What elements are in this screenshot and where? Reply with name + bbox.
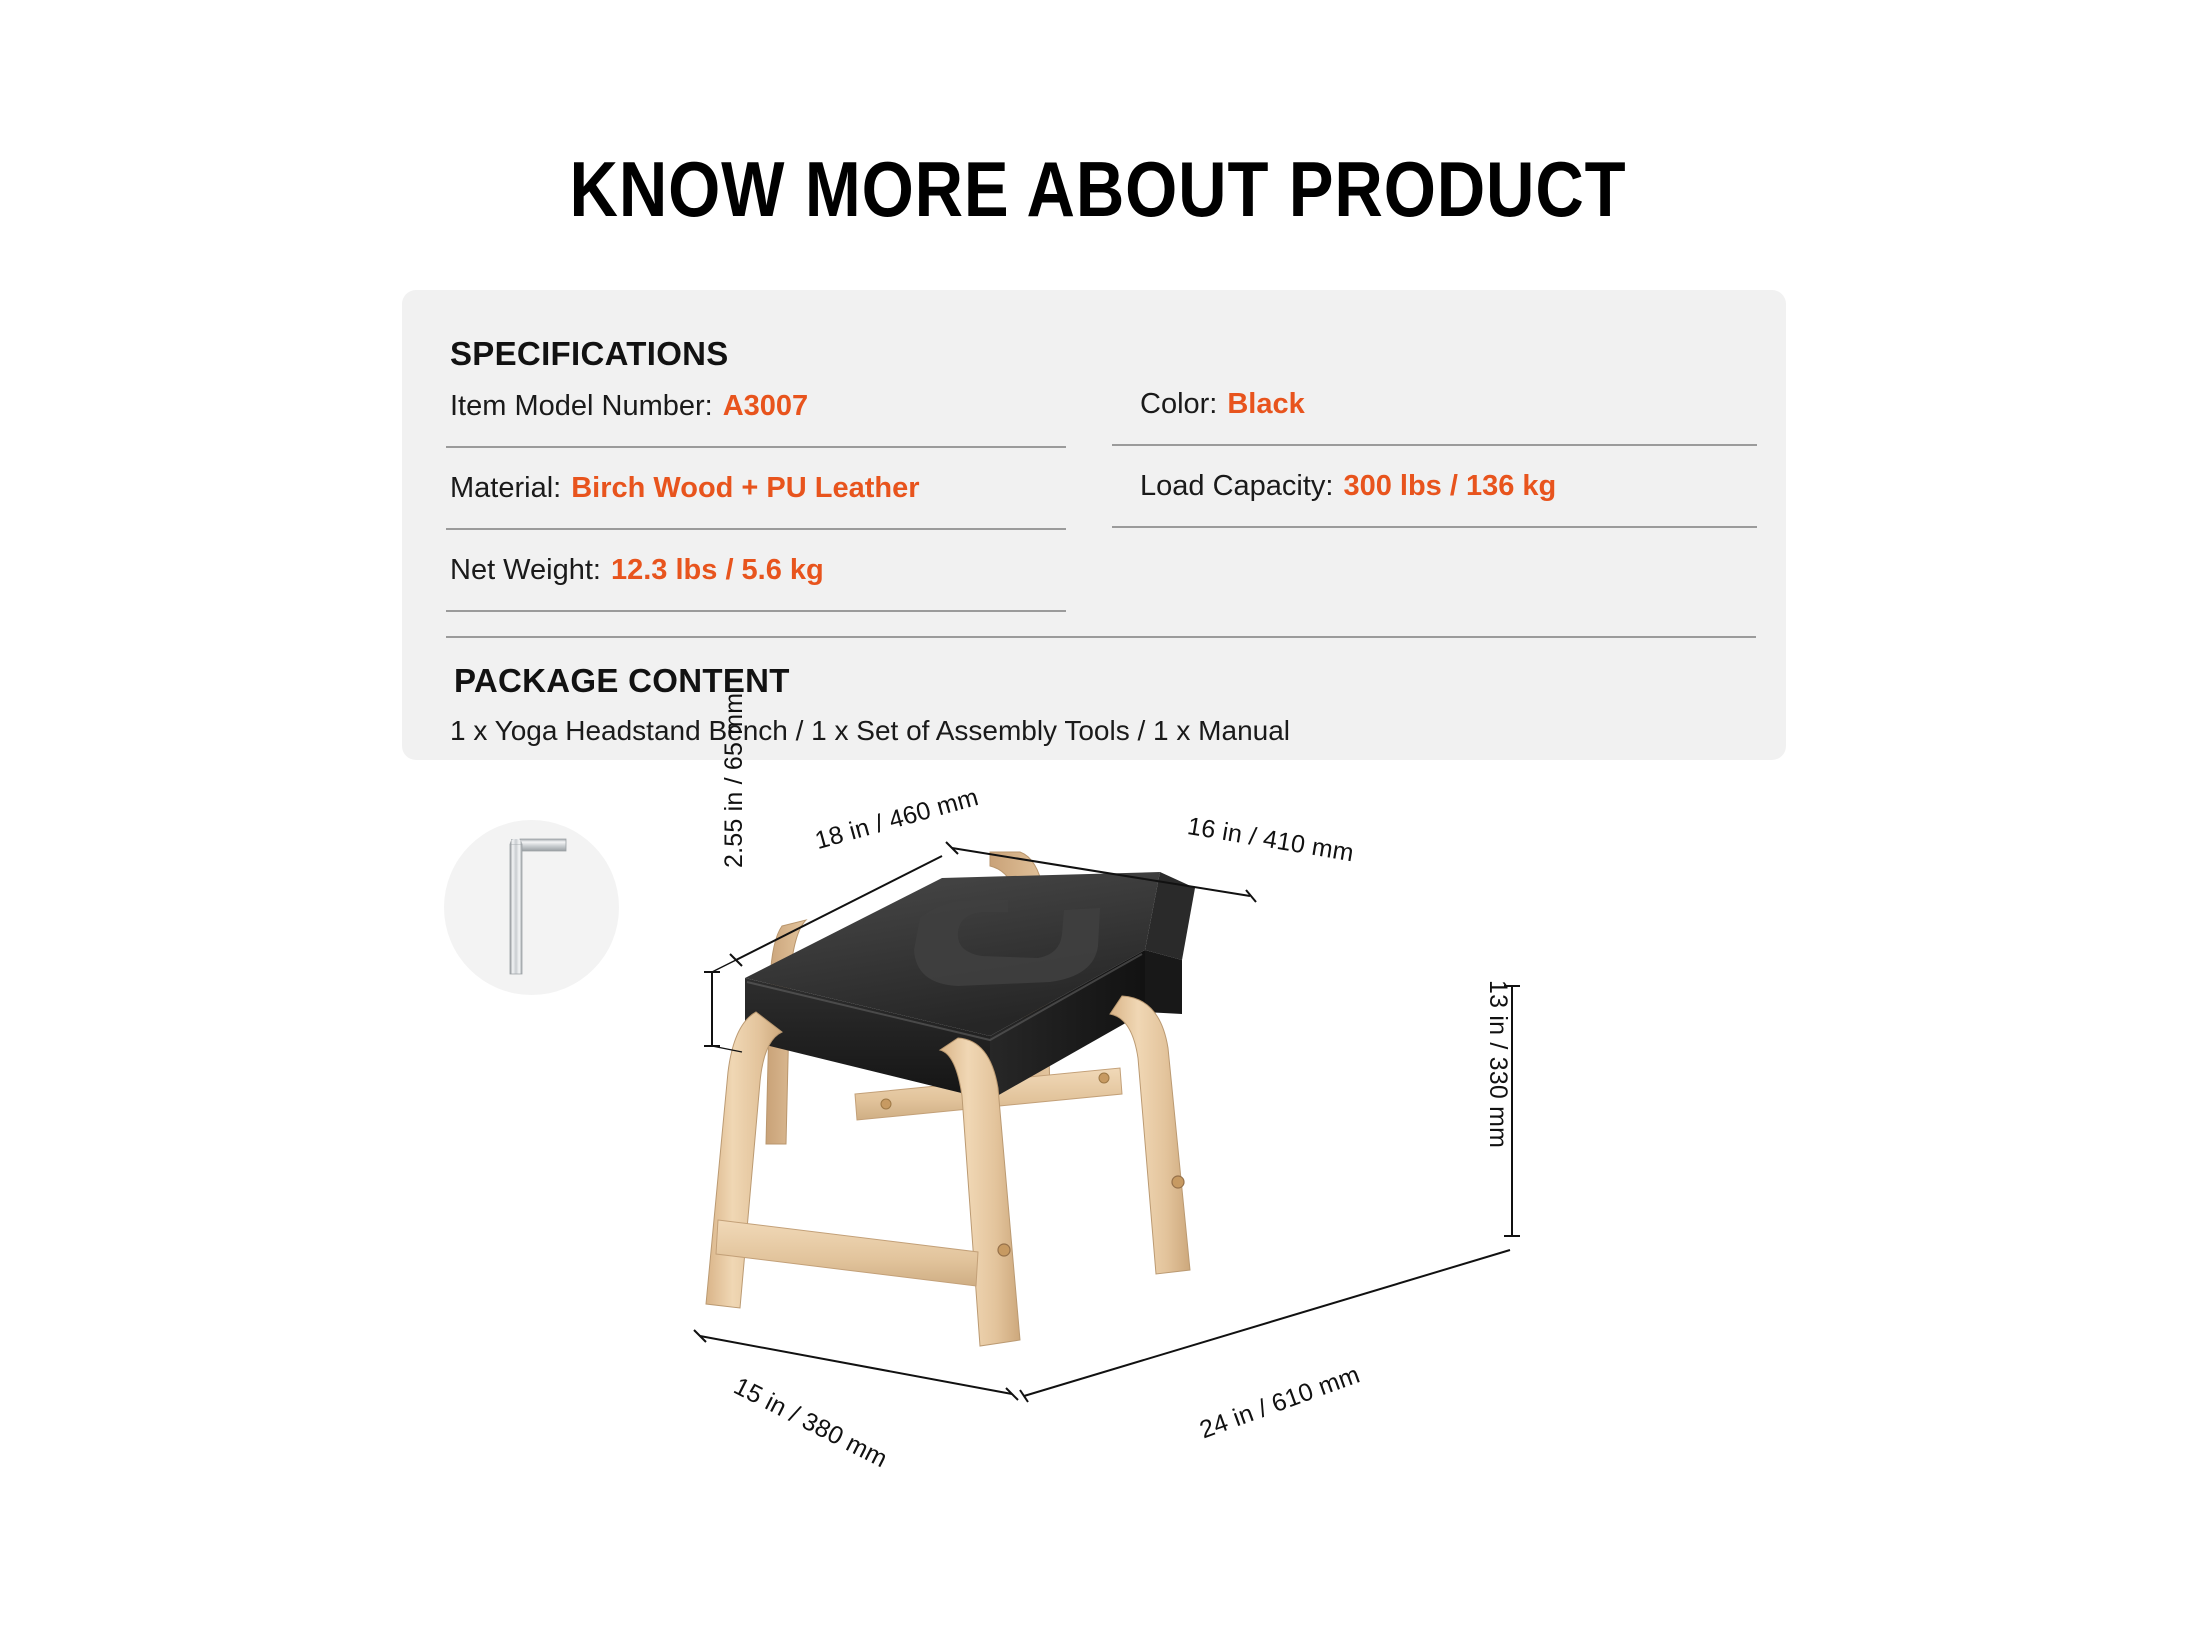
spec-row-load-capacity: Load Capacity: 300 lbs / 136 kg xyxy=(1140,470,1556,503)
package-content-text: 1 x Yoga Headstand Bench / 1 x Set of As… xyxy=(450,715,1290,747)
divider-right-2 xyxy=(1112,526,1757,528)
hex-key-long-arm xyxy=(510,844,522,974)
product-svg xyxy=(690,800,1610,1500)
cross-rail-left xyxy=(716,1220,978,1286)
specifications-panel: SPECIFICATIONS Item Model Number: A3007 … xyxy=(402,290,1786,760)
screw-icon xyxy=(1172,1176,1184,1188)
spec-value-net-weight: 12.3 lbs / 5.6 kg xyxy=(611,554,824,587)
leg-front-right xyxy=(1110,996,1190,1274)
spec-label-net-weight: Net Weight: xyxy=(450,554,601,587)
spec-label-load-capacity: Load Capacity: xyxy=(1140,470,1333,503)
spec-label-item-model-number: Item Model Number: xyxy=(450,390,713,423)
product-illustration xyxy=(690,800,1610,1500)
spec-row-net-weight: Net Weight: 12.3 lbs / 5.6 kg xyxy=(450,554,824,587)
hex-key-icon xyxy=(444,820,619,995)
spec-row-item-model-number: Item Model Number: A3007 xyxy=(450,390,808,423)
spec-row-material: Material: Birch Wood + PU Leather xyxy=(450,472,920,505)
divider-left-2 xyxy=(446,528,1066,530)
screw-icon xyxy=(1099,1073,1109,1083)
page-title: KNOW MORE ABOUT PRODUCT xyxy=(154,150,2043,228)
divider-left-1 xyxy=(446,446,1066,448)
dimension-label-leg-height: 13 in / 330 mm xyxy=(1483,980,1512,1148)
spec-value-item-model-number: A3007 xyxy=(723,390,808,423)
spec-value-material: Birch Wood + PU Leather xyxy=(571,472,919,505)
spec-label-color: Color: xyxy=(1140,388,1217,421)
divider-right-1 xyxy=(1112,444,1757,446)
spec-label-material: Material: xyxy=(450,472,561,505)
divider-left-3 xyxy=(446,610,1066,612)
screw-icon xyxy=(998,1244,1010,1256)
assembly-tool-badge xyxy=(444,820,619,995)
screw-icon xyxy=(881,1099,891,1109)
hex-key-short-arm xyxy=(520,839,566,851)
specifications-heading: SPECIFICATIONS xyxy=(450,335,729,373)
spec-row-color: Color: Black xyxy=(1140,388,1305,421)
spec-value-load-capacity: 300 lbs / 136 kg xyxy=(1343,470,1556,503)
spec-value-color: Black xyxy=(1227,388,1304,421)
dimension-label-cushion-height: 2.55 in / 65 mm xyxy=(720,693,749,868)
divider-package xyxy=(446,636,1756,638)
